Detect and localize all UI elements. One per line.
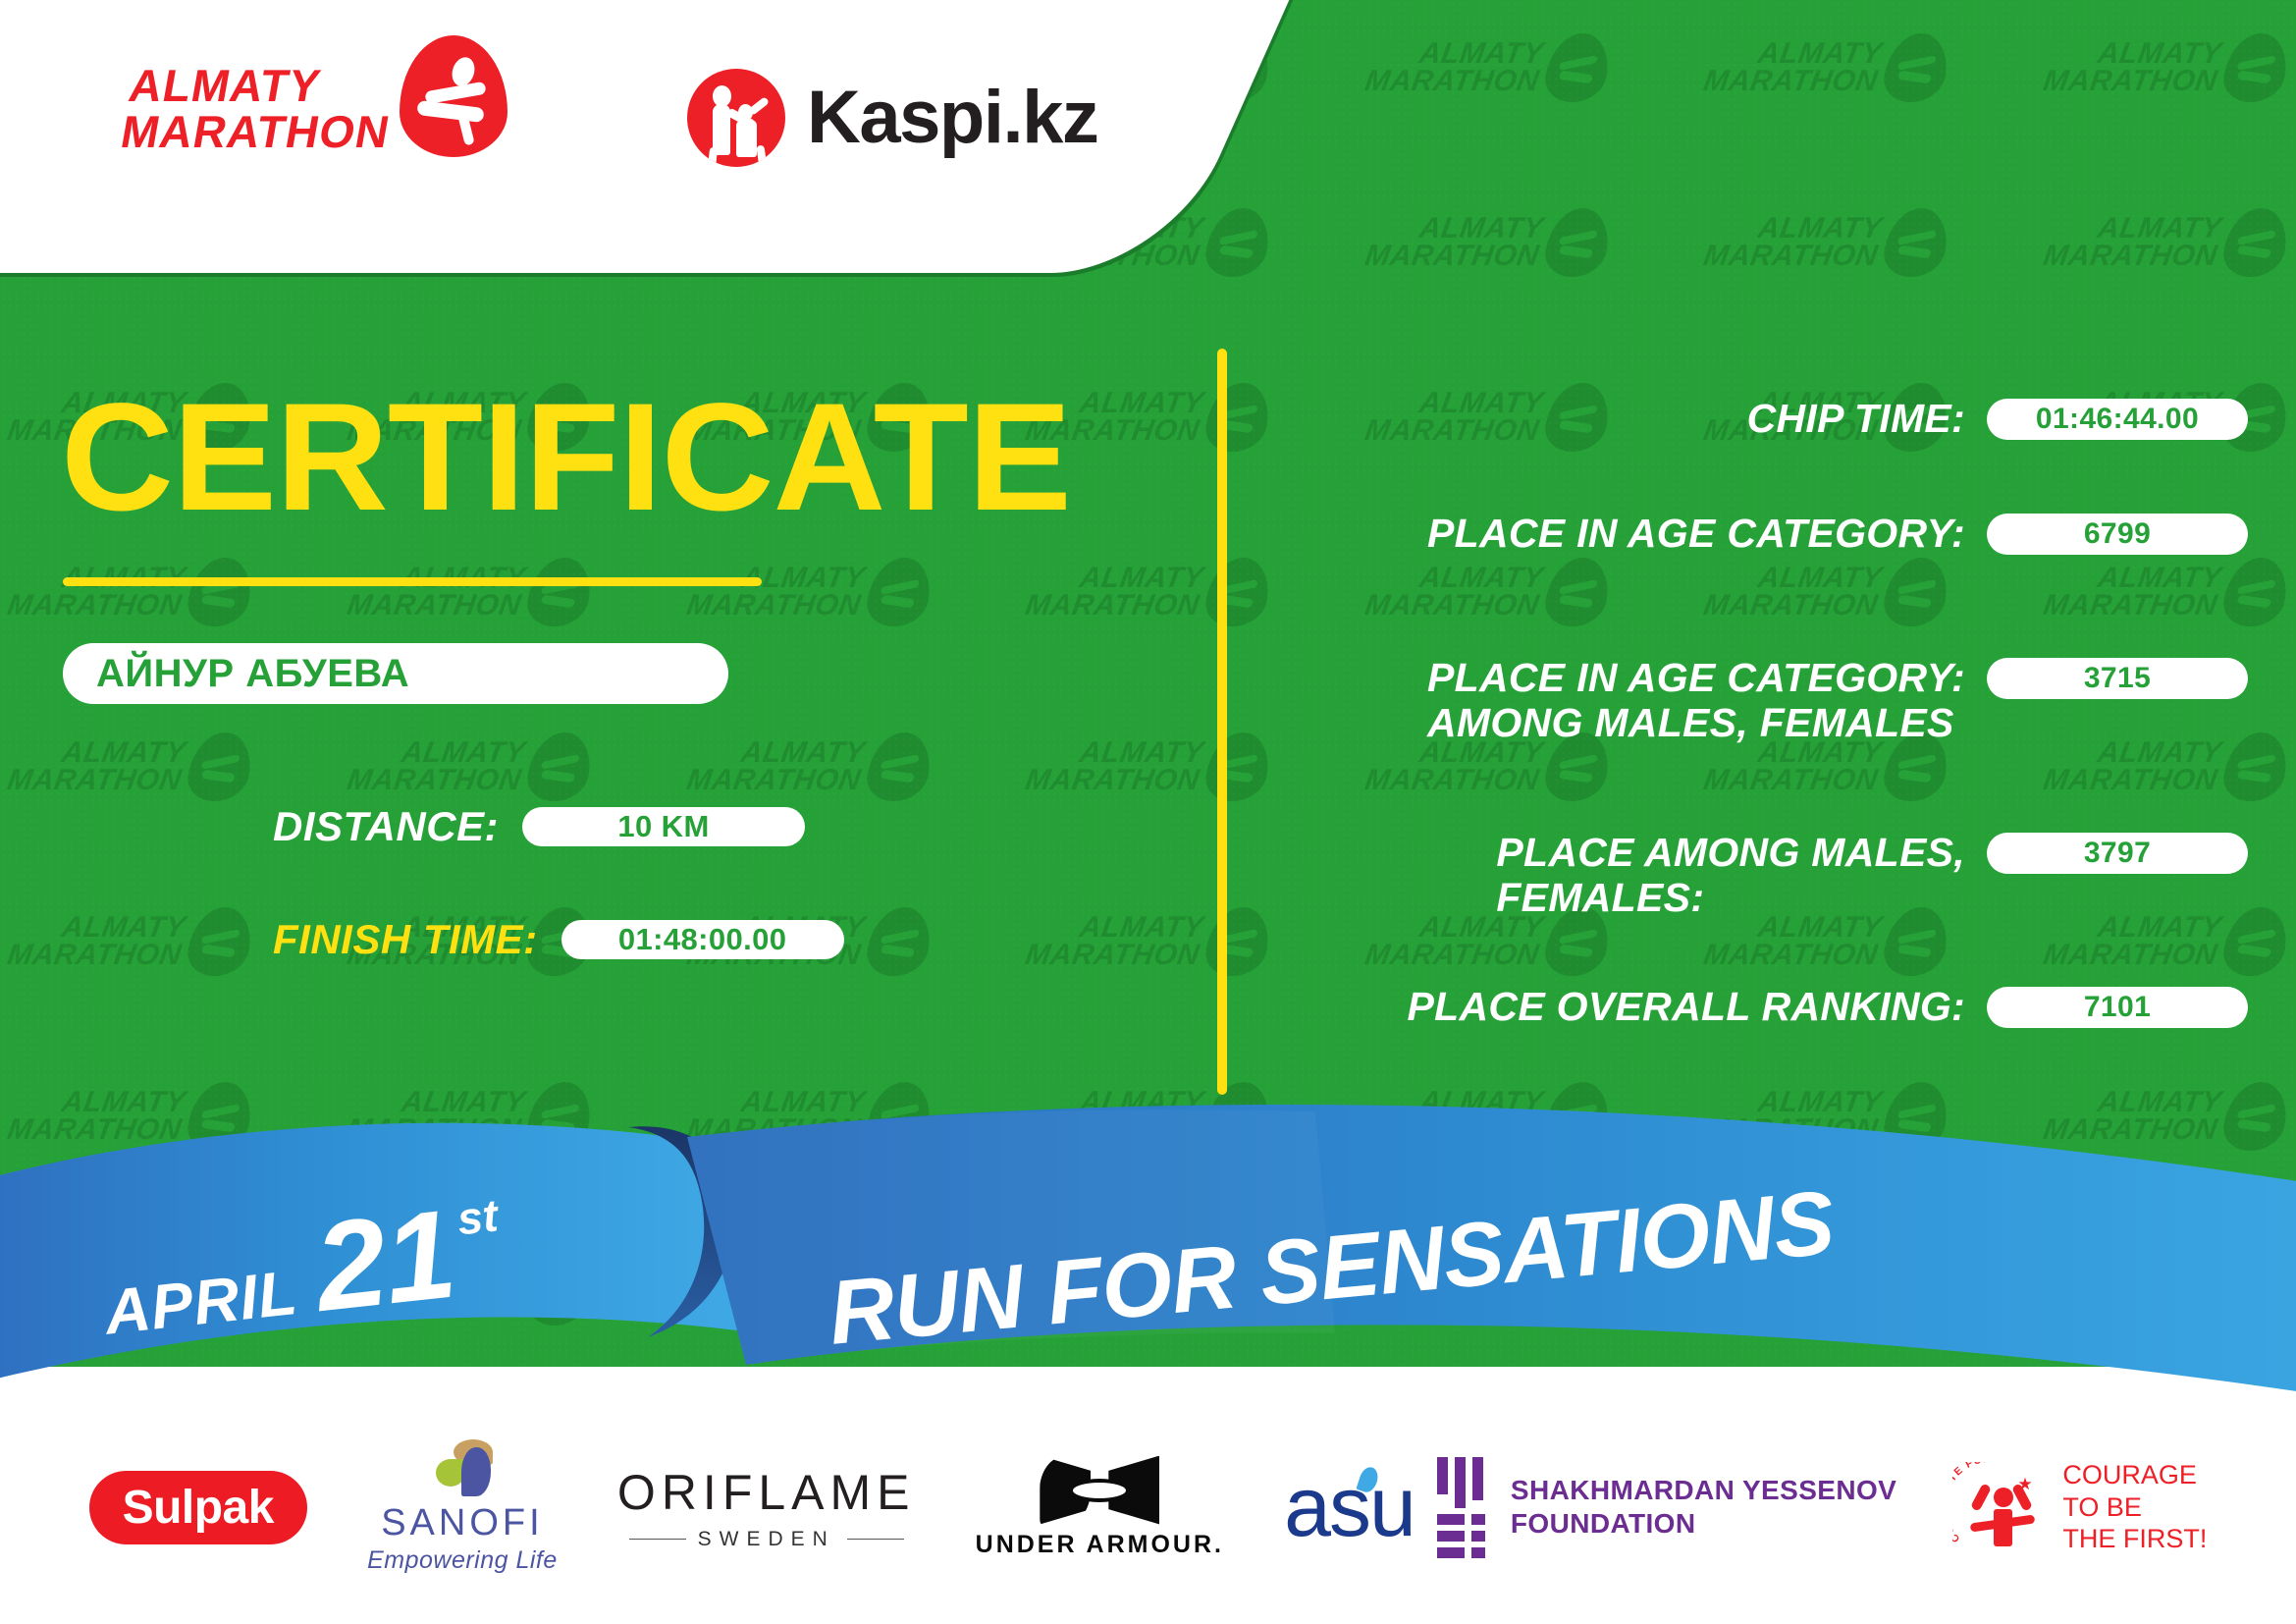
sponsor-sanofi-wordmark: SANOFI	[381, 1502, 543, 1544]
sponsor-sanofi-logo: SANOFI Empowering Life	[367, 1439, 558, 1575]
sponsor-bar: Sulpak SANOFI Empowering Life ORIFLAME S…	[0, 1414, 2296, 1600]
stat-value: 3715	[2084, 662, 2151, 695]
stat-row-place-overall: PLACE OVERALL RANKING: 7101	[1408, 985, 2248, 1030]
sponsor-under-armour-logo: UNDER ARMOUR.	[976, 1456, 1224, 1559]
kaspi-wordmark: Kaspi.kz	[807, 81, 1097, 155]
stat-value: 7101	[2084, 991, 2151, 1024]
sponsor-sulpak-wordmark: Sulpak	[123, 1481, 274, 1535]
stat-row-place-age-category-gender: PLACE IN AGE CATEGORY: AMONG MALES, FEMA…	[1427, 656, 2248, 746]
sponsor-oriflame-country: SWEDEN	[698, 1528, 835, 1551]
sponsor-sulpak-logo: Sulpak	[89, 1471, 307, 1544]
event-day: 21	[311, 1204, 459, 1321]
oriflame-rule-left	[629, 1539, 686, 1541]
athlete-name-field: АЙНУР АБУЕВА	[63, 643, 728, 704]
stat-label: CHIP TIME:	[1747, 397, 1965, 442]
sponsor-yessenov-wordmark: SHAKHMARDAN YESSENOV FOUNDATION	[1511, 1474, 1896, 1541]
sanofi-petal-icon	[432, 1439, 493, 1500]
athlete-name-value: АЙНУР АБУЕВА	[63, 652, 409, 696]
sponsor-corporate-fund-tagline: COURAGE TO BE THE FIRST!	[2062, 1459, 2207, 1556]
distance-row: DISTANCE: 10 KM	[273, 803, 805, 850]
watermark-runner-drop-icon	[1201, 558, 1273, 626]
distance-value-pill: 10 KM	[522, 807, 805, 846]
stat-label: PLACE IN AGE CATEGORY:	[1427, 512, 1965, 557]
title-divider	[63, 577, 762, 586]
stat-value-pill: 01:46:44.00	[1987, 399, 2248, 440]
almaty-marathon-logo: ALMATY MARATHON	[126, 61, 507, 157]
stat-value-pill: 6799	[1987, 514, 2248, 555]
header: ALMATY MARATHON Kaspi.kz	[0, 0, 1227, 273]
watermark-runner-drop-icon	[1201, 732, 1273, 801]
stat-value: 01:46:44.00	[2036, 403, 2199, 436]
almaty-marathon-line2: MARATHON	[118, 109, 394, 155]
runner-drop-icon	[400, 35, 507, 157]
finish-time-row: FINISH TIME: 01:48:00.00	[273, 916, 844, 963]
sponsor-asu-logo: asu	[1284, 1465, 1377, 1549]
sponsor-oriflame-sub: SWEDEN	[629, 1528, 904, 1551]
stat-value-pill: 7101	[1987, 987, 2248, 1028]
distance-label: DISTANCE:	[273, 803, 499, 850]
finish-time-label: FINISH TIME:	[273, 916, 538, 963]
page-title: CERTIFICATE	[61, 381, 1071, 534]
under-armour-icon	[1040, 1456, 1159, 1525]
vertical-divider	[1217, 349, 1227, 1095]
watermark-runner-drop-icon	[1201, 907, 1273, 976]
stat-label: PLACE OVERALL RANKING:	[1408, 985, 1965, 1030]
kaspi-logo: Kaspi.kz	[687, 69, 1097, 167]
stat-value: 6799	[2084, 517, 2151, 551]
kaspi-people-icon	[687, 69, 785, 167]
stat-row-chip-time: CHIP TIME: 01:46:44.00	[1747, 397, 2248, 442]
stat-value-pill: 3715	[1987, 658, 2248, 699]
finish-time-value-pill: 01:48:00.00	[561, 920, 844, 959]
sponsor-oriflame-logo: ORIFLAME SWEDEN	[617, 1464, 916, 1551]
watermark-runner-drop-icon	[1201, 383, 1273, 452]
sponsor-corporate-fund-logo: CORPORATE FUND ★ COURAGE TO BE THE FIRST…	[1956, 1459, 2207, 1556]
sponsor-sanofi-tagline: Empowering Life	[367, 1546, 558, 1575]
sponsor-under-armour-wordmark: UNDER ARMOUR.	[976, 1531, 1224, 1559]
certificate-page: ALMATYMARATHONALMATYMARATHONALMATYMARATH…	[0, 0, 2296, 1624]
stat-label: PLACE AMONG MALES, FEMALES:	[1496, 831, 1965, 921]
sponsor-asu-wordmark: asu	[1284, 1465, 1415, 1549]
stat-value-pill: 3797	[1987, 833, 2248, 874]
distance-value: 10 KM	[617, 809, 709, 844]
sponsor-yessenov-foundation-logo: SHAKHMARDAN YESSENOV FOUNDATION	[1437, 1457, 1896, 1558]
stat-row-place-age-category: PLACE IN AGE CATEGORY: 6799	[1427, 512, 2248, 557]
almaty-marathon-line1: ALMATY	[126, 63, 325, 109]
almaty-marathon-wordmark: ALMATY MARATHON	[118, 63, 401, 155]
yessenov-bars-icon	[1437, 1457, 1485, 1558]
oriflame-rule-right	[847, 1539, 904, 1541]
sponsor-oriflame-wordmark: ORIFLAME	[617, 1464, 916, 1521]
stat-value: 3797	[2084, 837, 2151, 870]
finish-time-value: 01:48:00.00	[618, 922, 787, 957]
event-day-suffix: st	[454, 1188, 500, 1245]
stat-row-place-among-gender: PLACE AMONG MALES, FEMALES: 3797	[1496, 831, 2248, 921]
corporate-fund-person-icon: CORPORATE FUND ★	[1956, 1462, 2047, 1552]
stat-label: PLACE IN AGE CATEGORY: AMONG MALES, FEMA…	[1427, 656, 1965, 746]
